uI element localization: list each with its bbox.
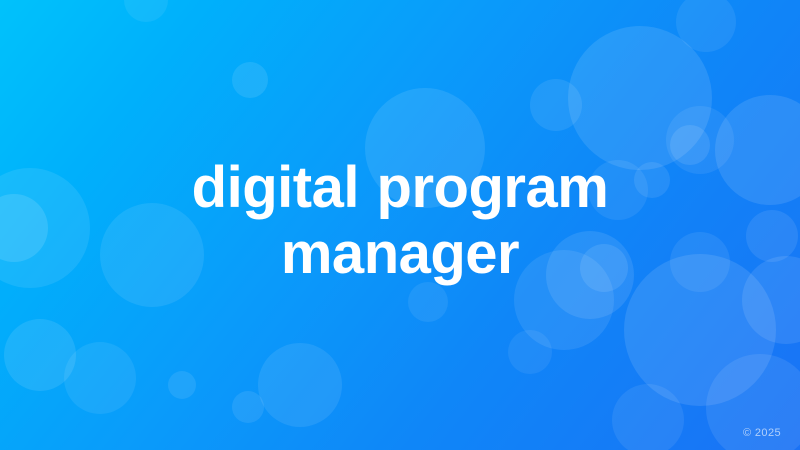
title-block: digital program manager	[0, 0, 800, 450]
page-title: digital program manager	[80, 155, 720, 287]
copyright-notice: © 2025	[743, 428, 781, 439]
presentation-slide: digital program manager © 2025	[0, 0, 800, 450]
